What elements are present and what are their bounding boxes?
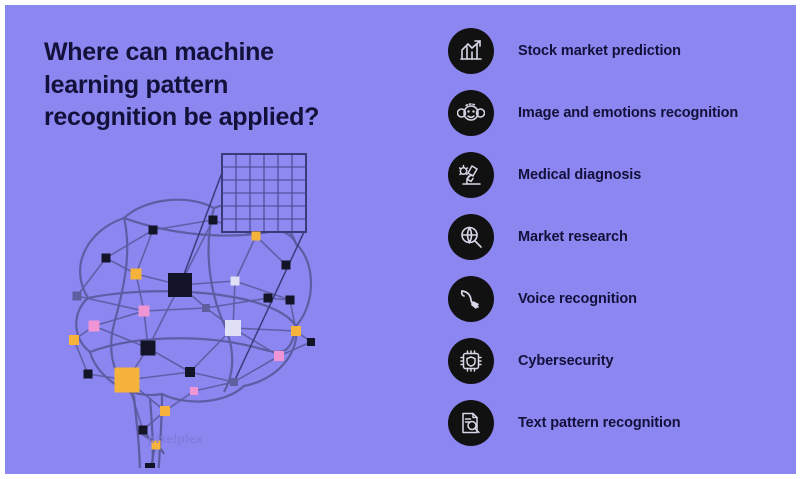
watermark: pixelplex (148, 432, 203, 446)
page-edge-left (0, 0, 5, 479)
voice-waveform-icon (448, 276, 494, 322)
list-item[interactable]: Market research (448, 214, 792, 260)
bar-chart-growth-icon (448, 28, 494, 74)
infographic-canvas: Where can machine learning pattern recog… (0, 0, 800, 479)
list-item-label: Image and emotions recognition (518, 105, 738, 121)
page-edge-right (796, 0, 800, 479)
globe-magnifier-icon (448, 214, 494, 260)
microscope-icon (448, 152, 494, 198)
list-item-label: Cybersecurity (518, 353, 613, 369)
chip-shield-icon (448, 338, 494, 384)
list-item-label: Voice recognition (518, 291, 637, 307)
list-item[interactable]: Cybersecurity (448, 338, 792, 384)
page-edge-bottom (0, 474, 800, 479)
list-item-label: Market research (518, 229, 628, 245)
list-item[interactable]: Medical diagnosis (448, 152, 792, 198)
list-item[interactable]: Text pattern recognition (448, 400, 792, 446)
page-title: Where can machine learning pattern recog… (44, 36, 324, 134)
page-edge-top (0, 0, 800, 5)
list-item-label: Medical diagnosis (518, 167, 641, 183)
grid-callout (222, 154, 306, 232)
faces-emotions-icon (448, 90, 494, 136)
applications-list: Stock market prediction Image and emot (448, 28, 792, 462)
document-magnifier-icon (448, 400, 494, 446)
list-item-label: Text pattern recognition (518, 415, 680, 431)
list-item-label: Stock market prediction (518, 43, 681, 59)
neural-network-brain-illustration (28, 148, 318, 468)
list-item[interactable]: Voice recognition (448, 276, 792, 322)
list-item[interactable]: Stock market prediction (448, 28, 792, 74)
list-item[interactable]: Image and emotions recognition (448, 90, 792, 136)
